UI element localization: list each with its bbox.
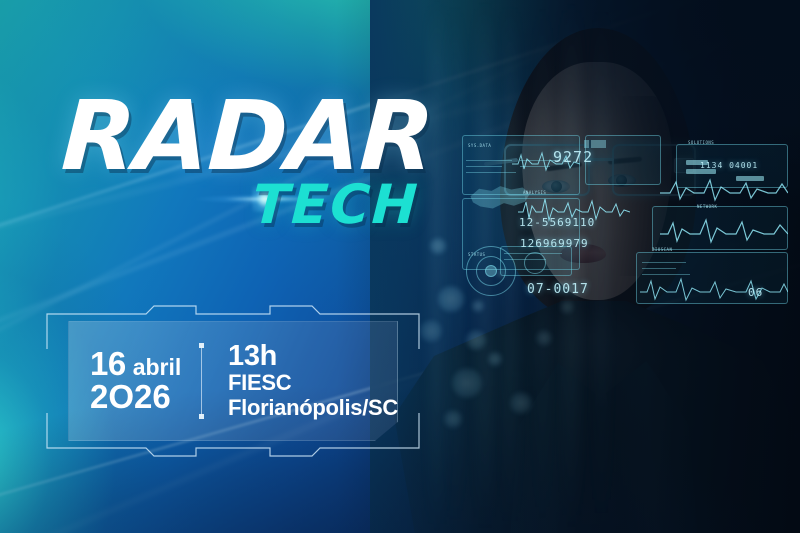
bokeh-circle (452, 368, 482, 398)
bokeh-circle (510, 392, 532, 414)
badge-divider (201, 346, 202, 416)
light-column (540, 0, 545, 533)
bokeh-circle (444, 410, 462, 428)
bokeh-circle (536, 330, 552, 346)
bokeh-circle (560, 300, 574, 314)
light-column (506, 0, 514, 533)
bokeh-circle (430, 238, 446, 254)
bokeh-circle (420, 320, 442, 342)
bokeh-circle (438, 286, 464, 312)
badge-date-block: 16 abril 2O26 (68, 347, 195, 416)
brand-name-primary: RADAR (59, 88, 435, 184)
event-time: 13h (228, 342, 398, 372)
light-column (598, 0, 605, 533)
brand-name-secondary: TECH (61, 178, 421, 232)
bokeh-circle (488, 352, 502, 366)
bokeh-circle (496, 268, 506, 278)
event-year: 2O26 (90, 380, 195, 415)
venue-city: Florianópolis/SC (228, 396, 398, 421)
event-info-badge: 16 abril 2O26 13h FIESC Florianópolis/SC (46, 305, 420, 457)
light-column (452, 0, 458, 533)
brand-logo: RADAR TECH (62, 88, 433, 232)
bokeh-circle (472, 300, 484, 312)
light-column (566, 0, 577, 533)
venue-name: FIESC (228, 371, 398, 396)
event-banner: 927212-556911012696997907-00171134 04001… (0, 0, 800, 533)
badge-venue-block: 13h FIESC Florianópolis/SC (208, 342, 398, 421)
event-month: abril (133, 356, 182, 379)
event-day: 16 (90, 347, 126, 381)
bokeh-circle (466, 330, 486, 350)
badge-content: 16 abril 2O26 13h FIESC Florianópolis/SC (68, 321, 398, 441)
date-row: 16 abril (90, 347, 195, 381)
light-column (478, 0, 492, 533)
